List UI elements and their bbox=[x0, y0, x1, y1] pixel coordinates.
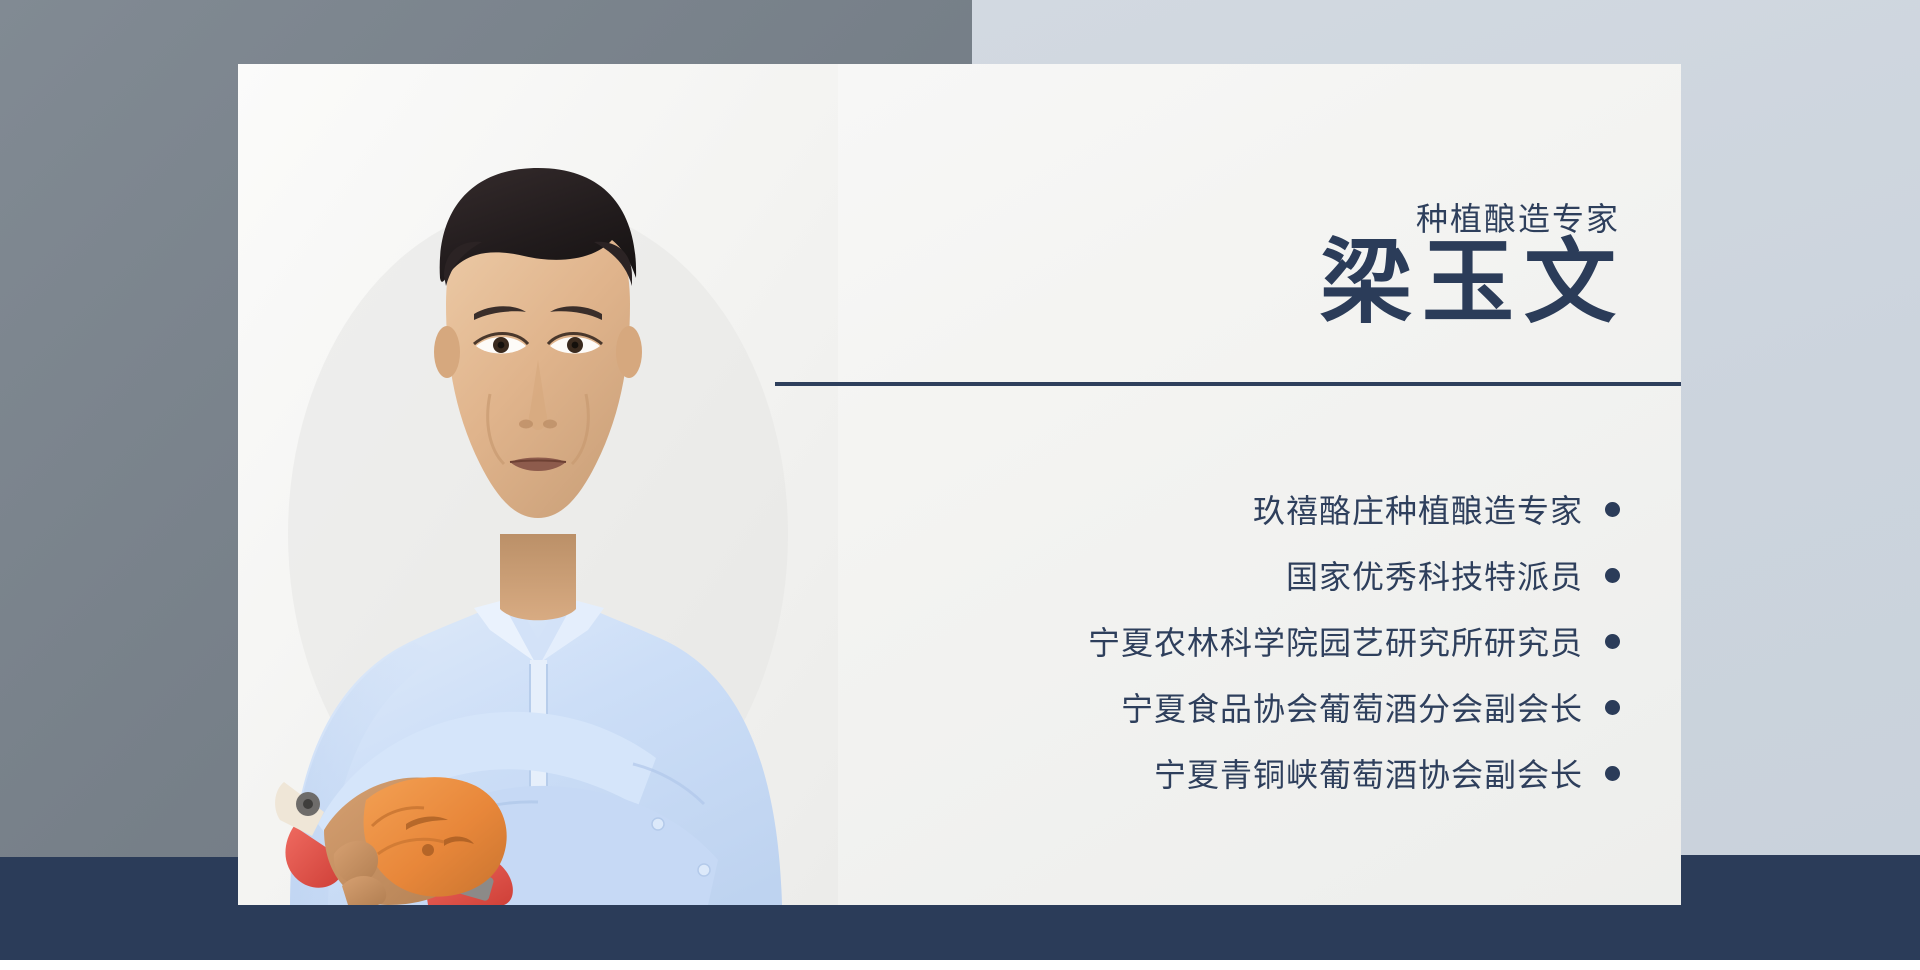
background-navy-right-block bbox=[1681, 855, 1920, 970]
credential-text: 宁夏农林科学院园艺研究所研究员 bbox=[1088, 618, 1583, 664]
divider-line bbox=[775, 382, 1681, 386]
expert-name: 梁玉文 bbox=[1320, 234, 1626, 333]
list-item: 玖禧酪庄种植酿造专家 bbox=[840, 476, 1620, 542]
list-item: 宁夏食品协会葡萄酒分会副会长 bbox=[840, 674, 1620, 740]
bullet-dot-icon bbox=[1605, 568, 1620, 583]
portrait-photo bbox=[238, 64, 838, 905]
credential-text: 宁夏青铜峡葡萄酒协会副会长 bbox=[1154, 750, 1583, 796]
bullet-dot-icon bbox=[1605, 502, 1620, 517]
credential-text: 国家优秀科技特派员 bbox=[1286, 552, 1583, 598]
background-white-strip bbox=[0, 960, 1920, 970]
profile-text-block: 种植酿造专家 梁玉文 玖禧酪庄种植酿造专家 国家优秀科技特派员 宁夏农林科学院园… bbox=[838, 64, 1681, 905]
list-item: 国家优秀科技特派员 bbox=[840, 542, 1620, 608]
bullet-dot-icon bbox=[1605, 634, 1620, 649]
profile-card: 种植酿造专家 梁玉文 玖禧酪庄种植酿造专家 国家优秀科技特派员 宁夏农林科学院园… bbox=[238, 64, 1681, 905]
credential-text: 宁夏食品协会葡萄酒分会副会长 bbox=[1121, 684, 1583, 730]
bullet-dot-icon bbox=[1605, 766, 1620, 781]
credentials-list: 玖禧酪庄种植酿造专家 国家优秀科技特派员 宁夏农林科学院园艺研究所研究员 宁夏食… bbox=[840, 476, 1620, 806]
bullet-dot-icon bbox=[1605, 700, 1620, 715]
credential-text: 玖禧酪庄种植酿造专家 bbox=[1253, 486, 1583, 532]
list-item: 宁夏农林科学院园艺研究所研究员 bbox=[840, 608, 1620, 674]
list-item: 宁夏青铜峡葡萄酒协会副会长 bbox=[840, 740, 1620, 806]
poster-canvas: 种植酿造专家 梁玉文 玖禧酪庄种植酿造专家 国家优秀科技特派员 宁夏农林科学院园… bbox=[0, 0, 1920, 970]
